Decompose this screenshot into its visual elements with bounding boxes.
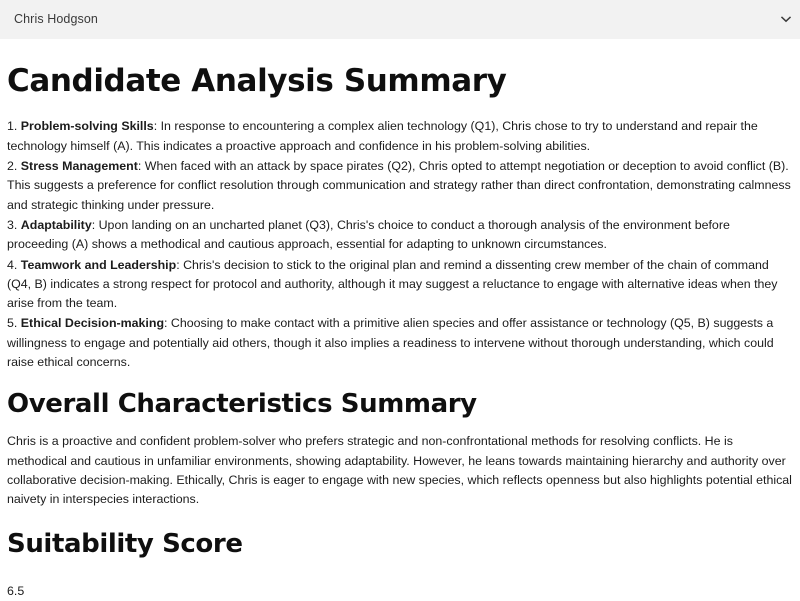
analysis-item: 2. Stress Management: When faced with an… (7, 157, 793, 215)
candidate-selector[interactable]: Chris Hodgson (0, 0, 800, 39)
analysis-item-number: 1. (7, 119, 17, 133)
analysis-list: 1. Problem-solving Skills: In response t… (7, 117, 793, 372)
analysis-item-text: : Upon landing on an uncharted planet (Q… (7, 218, 730, 251)
analysis-item-label: Ethical Decision-making (21, 316, 164, 330)
analysis-item-label: Stress Management (21, 159, 138, 173)
overall-characteristics-text: Chris is a proactive and confident probl… (7, 432, 793, 509)
analysis-item-number: 4. (7, 258, 17, 272)
analysis-item: 4. Teamwork and Leadership: Chris's deci… (7, 256, 793, 314)
page-title: Candidate Analysis Summary (7, 65, 793, 98)
analysis-item-label: Adaptability (21, 218, 92, 232)
chevron-down-icon[interactable] (781, 15, 791, 25)
analysis-item-number: 3. (7, 218, 17, 232)
analysis-item-number: 5. (7, 316, 17, 330)
suitability-score-value: 6.5 (7, 582, 793, 601)
analysis-item: 3. Adaptability: Upon landing on an unch… (7, 216, 793, 255)
analysis-item: 5. Ethical Decision-making: Choosing to … (7, 314, 793, 372)
candidate-selector-value: Chris Hodgson (14, 13, 98, 26)
report-content: Candidate Analysis Summary 1. Problem-so… (0, 65, 800, 601)
analysis-item-number: 2. (7, 159, 17, 173)
analysis-item: 1. Problem-solving Skills: In response t… (7, 117, 793, 156)
overall-characteristics-title: Overall Characteristics Summary (7, 390, 793, 418)
analysis-item-label: Teamwork and Leadership (21, 258, 176, 272)
analysis-item-label: Problem-solving Skills (21, 119, 154, 133)
